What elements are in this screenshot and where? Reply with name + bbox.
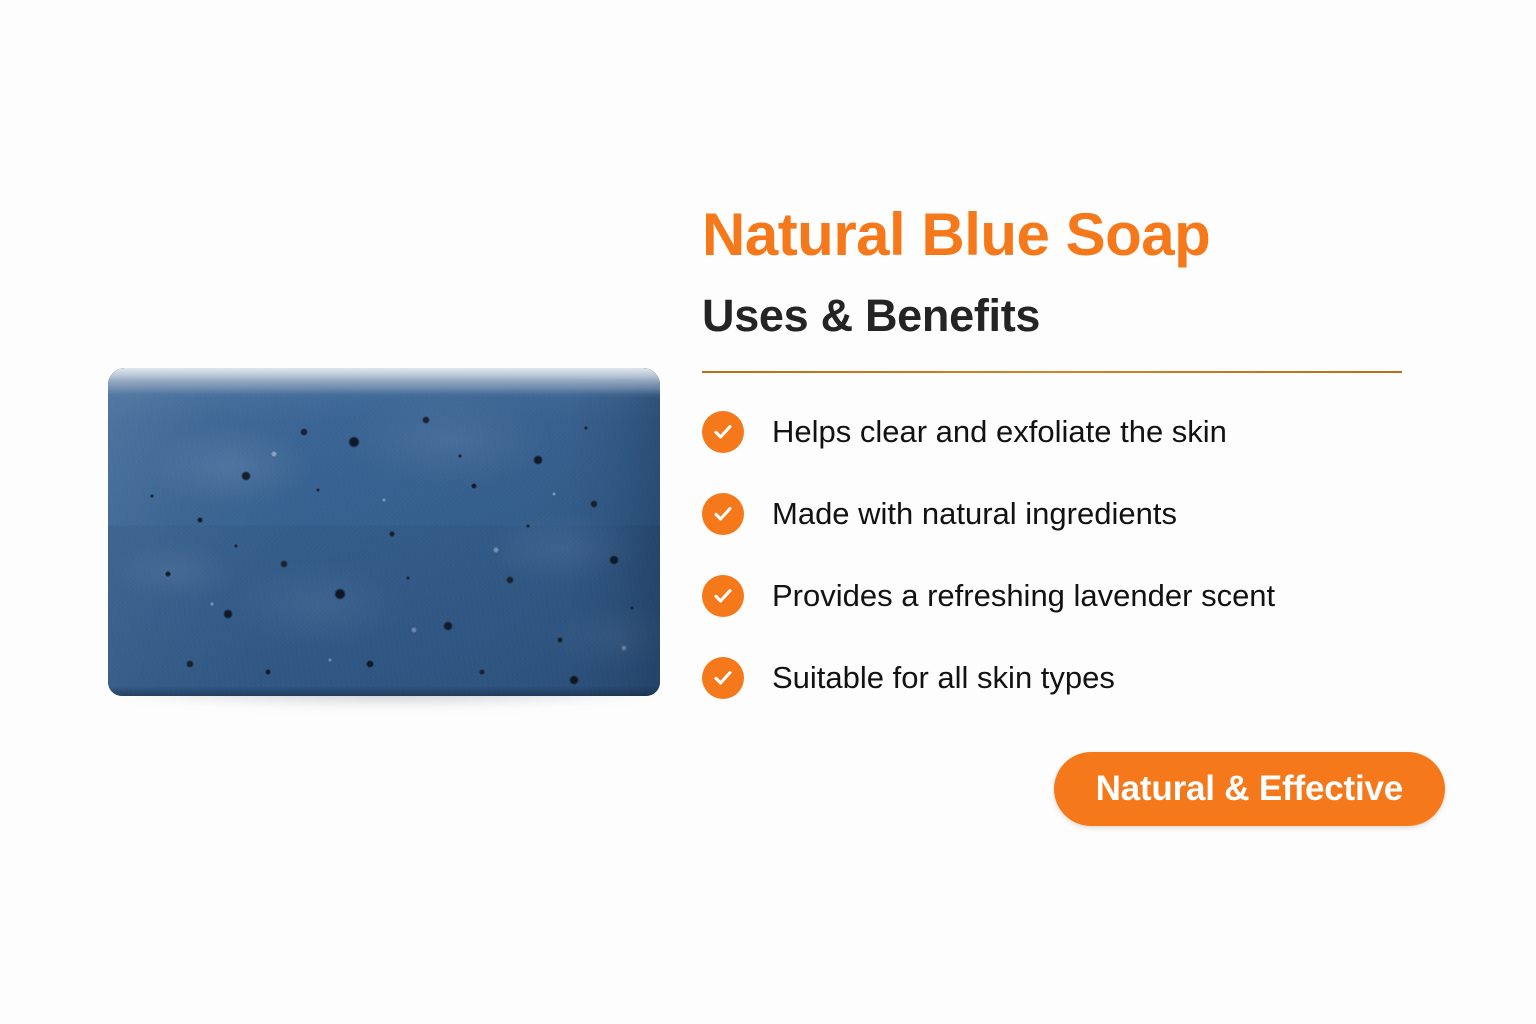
benefit-label: Provides a refreshing lavender scent (772, 575, 1275, 617)
benefit-label: Made with natural ingredients (772, 493, 1177, 535)
check-circle-icon (702, 657, 744, 699)
content-panel: Natural Blue Soap Uses & Benefits Helps … (702, 0, 1462, 1024)
list-item: Made with natural ingredients (702, 493, 1442, 535)
check-circle-icon (702, 493, 744, 535)
soap-bar (108, 368, 660, 696)
soap-right-side-face (568, 376, 660, 696)
soap-bottom-edge (108, 686, 660, 696)
page-title: Natural Blue Soap (702, 199, 1210, 271)
check-circle-icon (702, 411, 744, 453)
soap-bar-photo (108, 368, 660, 698)
benefit-label: Helps clear and exfoliate the skin (772, 411, 1227, 453)
natural-and-effective-badge[interactable]: Natural & Effective (1054, 752, 1445, 826)
check-circle-icon (702, 575, 744, 617)
list-item: Helps clear and exfoliate the skin (702, 411, 1442, 453)
benefits-list: Helps clear and exfoliate the skin Made … (702, 411, 1442, 699)
soap-top-face (108, 368, 660, 398)
page-subtitle: Uses & Benefits (702, 289, 1040, 343)
benefit-label: Suitable for all skin types (772, 657, 1115, 699)
cta-badge-row: Natural & Effective (702, 752, 1445, 826)
title-divider (702, 371, 1402, 373)
list-item: Suitable for all skin types (702, 657, 1442, 699)
product-infographic: Natural Blue Soap Uses & Benefits Helps … (0, 0, 1536, 1024)
product-image-panel (0, 0, 690, 1024)
list-item: Provides a refreshing lavender scent (702, 575, 1442, 617)
